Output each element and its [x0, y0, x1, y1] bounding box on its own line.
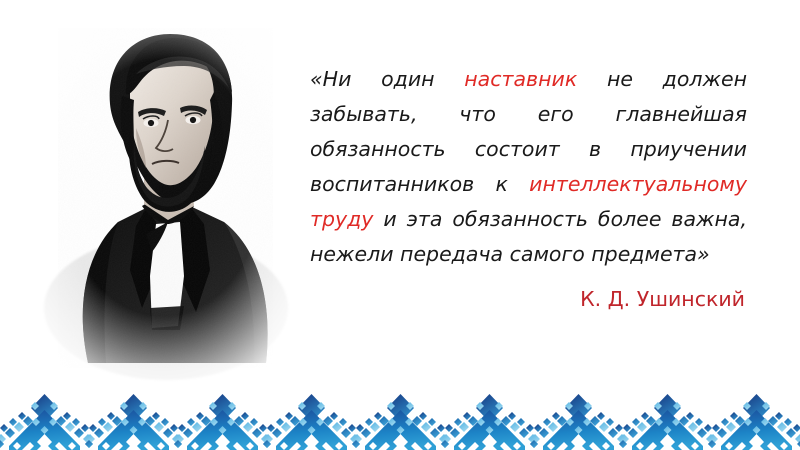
quote-part-3: и эта обязанность более важна, нежели пе…: [310, 207, 747, 266]
quote-block: «Ни один наставник не должен забывать, ч…: [310, 62, 747, 312]
ornament-pattern-svg: [0, 388, 800, 450]
quote-text: «Ни один наставник не должен забывать, ч…: [310, 62, 747, 272]
ornament-border: [0, 388, 800, 450]
portrait-engraving-svg: [18, 8, 308, 383]
quote-attribution: К. Д. Ушинский: [310, 286, 747, 312]
slide-canvas: «Ни один наставник не должен забывать, ч…: [0, 0, 800, 450]
portrait-image: [18, 8, 308, 383]
quote-highlight-1: наставник: [464, 67, 577, 91]
quote-part-1: «Ни один: [310, 67, 464, 91]
